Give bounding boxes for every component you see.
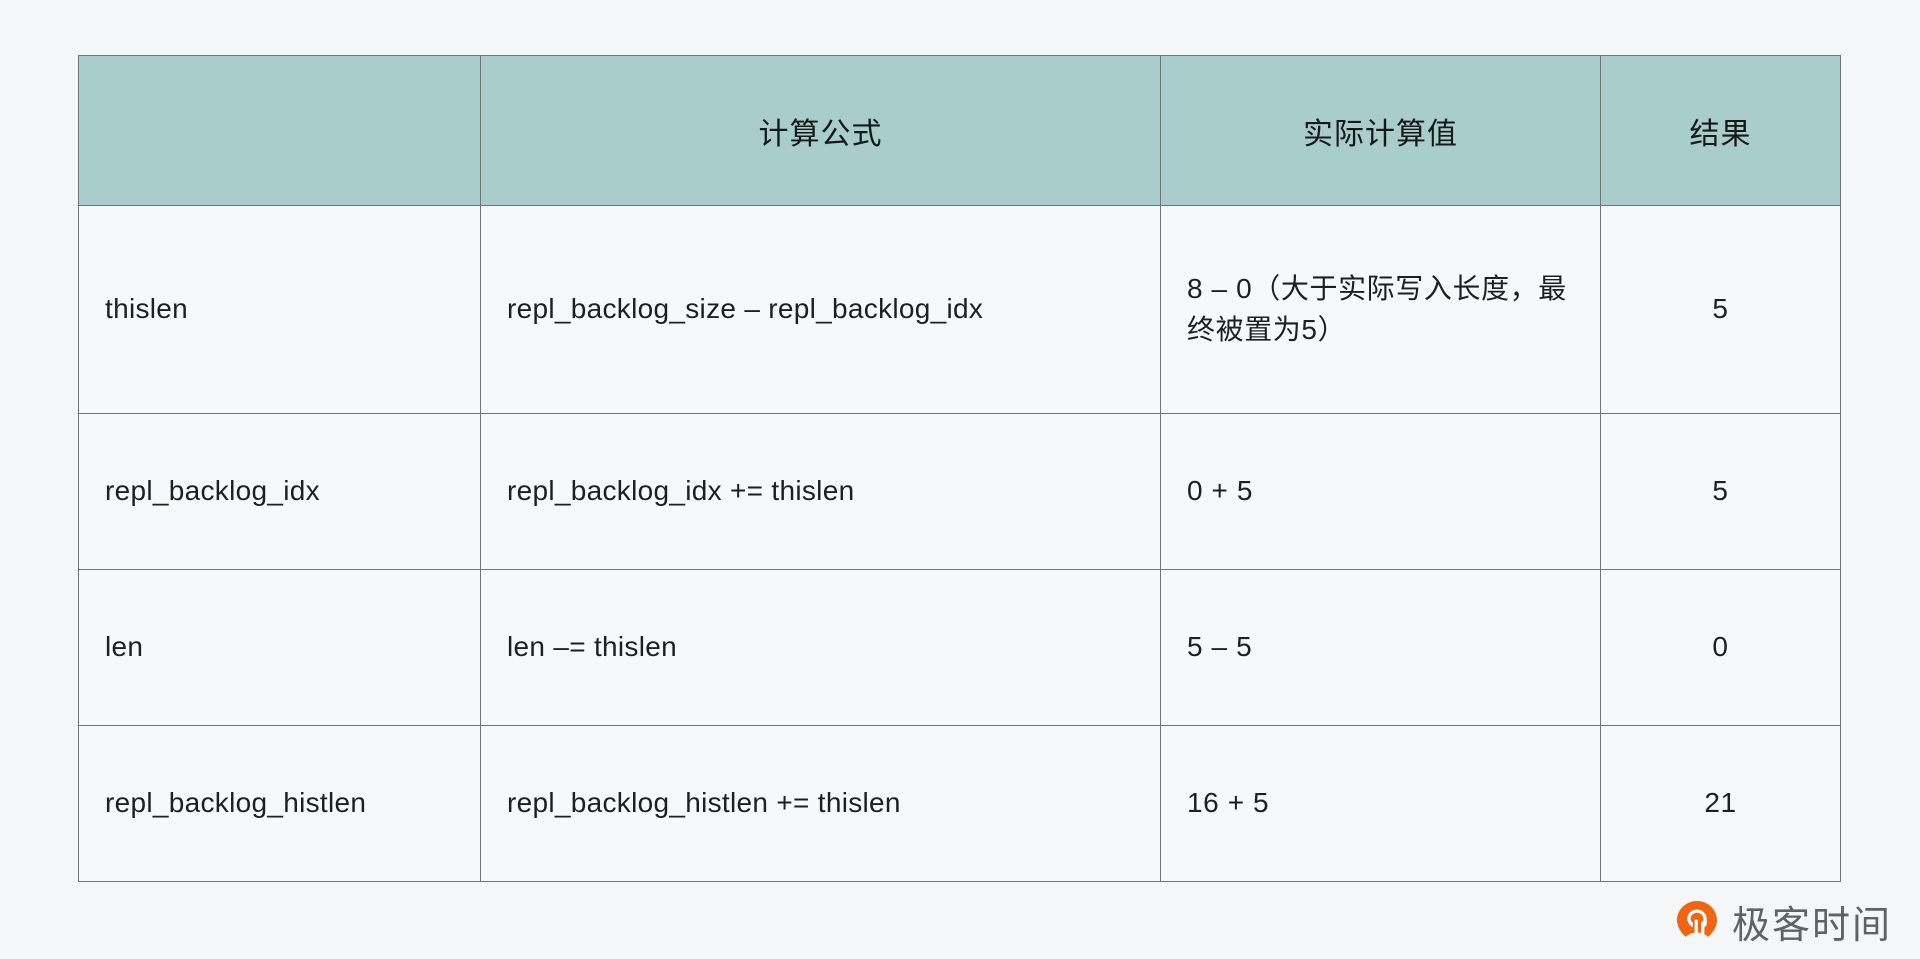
table-body: thislen repl_backlog_size – repl_backlog… bbox=[79, 206, 1841, 882]
row-variable-name: repl_backlog_histlen bbox=[79, 726, 481, 882]
row-result: 21 bbox=[1601, 726, 1841, 882]
geektime-droplet-icon bbox=[1674, 899, 1720, 945]
row-formula: repl_backlog_size – repl_backlog_idx bbox=[481, 206, 1161, 414]
row-formula: repl_backlog_idx += thislen bbox=[481, 414, 1161, 570]
row-actual-value: 5 – 5 bbox=[1161, 570, 1601, 726]
header-formula: 计算公式 bbox=[481, 56, 1161, 206]
watermark-text: 极客时间 bbox=[1732, 894, 1892, 949]
row-variable-name: repl_backlog_idx bbox=[79, 414, 481, 570]
header-row: 计算公式 实际计算值 结果 bbox=[79, 56, 1841, 206]
row-variable-name: thislen bbox=[79, 206, 481, 414]
row-actual-value: 16 + 5 bbox=[1161, 726, 1601, 882]
table-row: repl_backlog_histlen repl_backlog_histle… bbox=[79, 726, 1841, 882]
calculation-table: 计算公式 实际计算值 结果 thislen repl_backlog_size … bbox=[78, 55, 1841, 882]
watermark: 极客时间 bbox=[1674, 894, 1892, 949]
table-row: repl_backlog_idx repl_backlog_idx += thi… bbox=[79, 414, 1841, 570]
header-actual-value: 实际计算值 bbox=[1161, 56, 1601, 206]
calculation-table-container: 计算公式 实际计算值 结果 thislen repl_backlog_size … bbox=[78, 55, 1840, 882]
row-actual-value: 8 – 0（大于实际写入长度，最终被置为5） bbox=[1161, 206, 1601, 414]
header-result: 结果 bbox=[1601, 56, 1841, 206]
table-header: 计算公式 实际计算值 结果 bbox=[79, 56, 1841, 206]
row-result: 5 bbox=[1601, 206, 1841, 414]
table-row: thislen repl_backlog_size – repl_backlog… bbox=[79, 206, 1841, 414]
row-formula: len –= thislen bbox=[481, 570, 1161, 726]
row-result: 5 bbox=[1601, 414, 1841, 570]
table-row: len len –= thislen 5 – 5 0 bbox=[79, 570, 1841, 726]
row-actual-value: 0 + 5 bbox=[1161, 414, 1601, 570]
row-formula: repl_backlog_histlen += thislen bbox=[481, 726, 1161, 882]
header-blank bbox=[79, 56, 481, 206]
row-variable-name: len bbox=[79, 570, 481, 726]
row-result: 0 bbox=[1601, 570, 1841, 726]
